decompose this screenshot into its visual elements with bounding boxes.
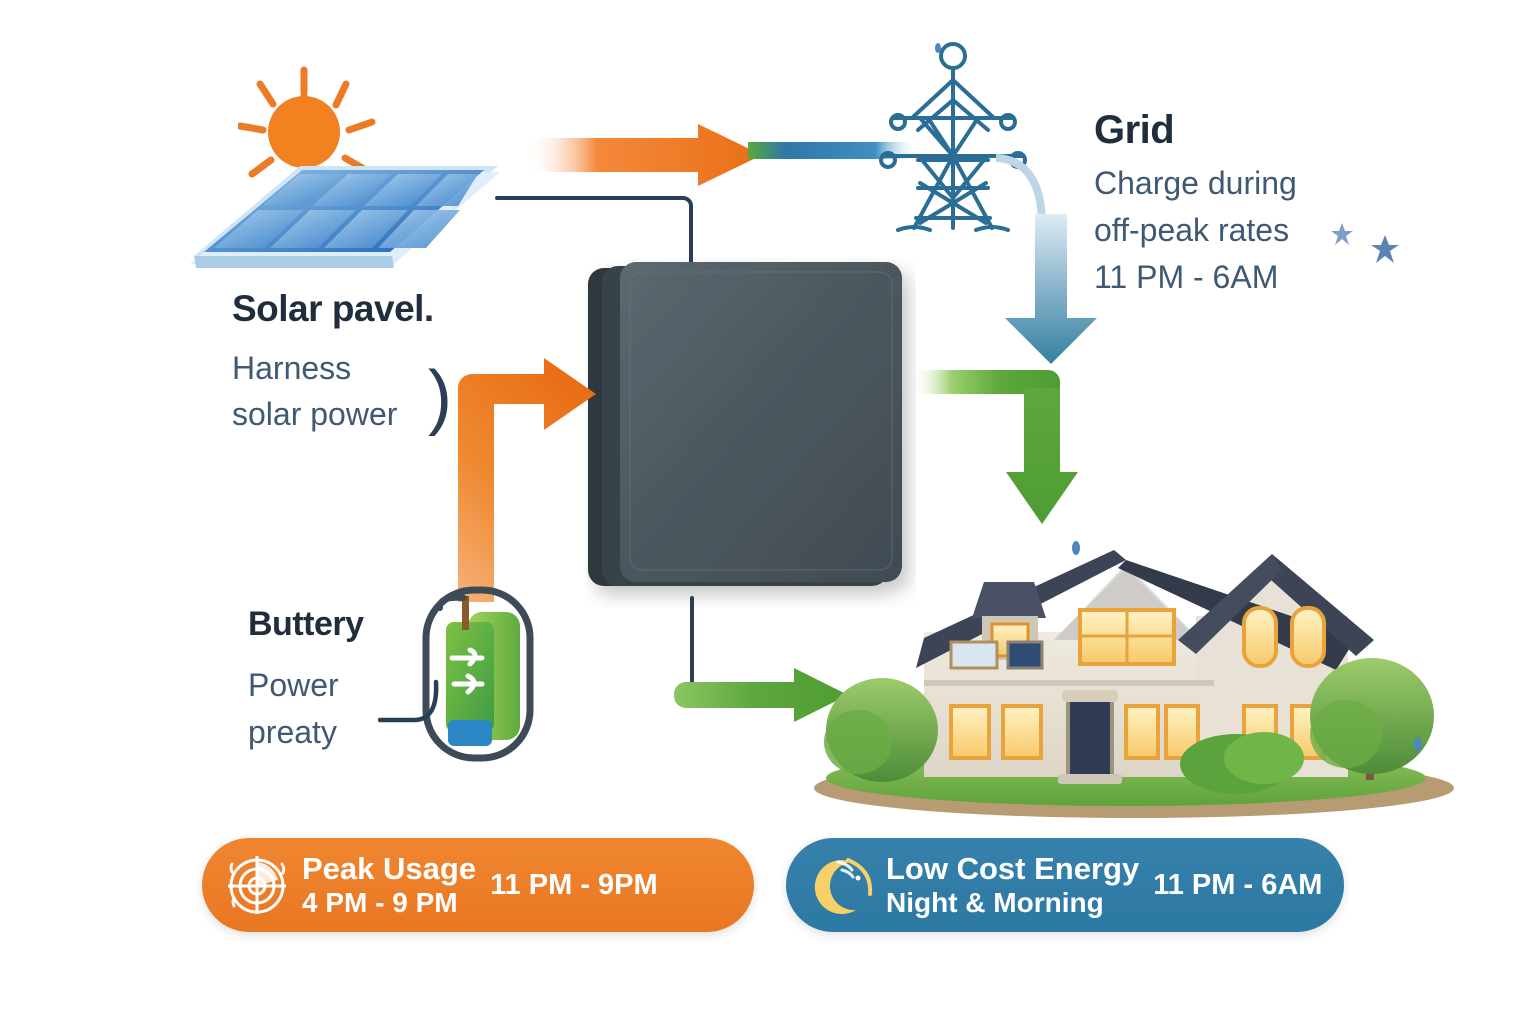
- grid-subtitle: Charge during off-peak rates 11 PM - 6AM: [1094, 160, 1297, 301]
- legend-low-cost-energy[interactable]: Low Cost Energy Night & Morning 11 PM - …: [786, 838, 1344, 932]
- legend-peak-usage[interactable]: Peak Usage 4 PM - 9 PM 11 PM - 9PM: [202, 838, 754, 932]
- legend-peak-usage-label: Peak Usage: [302, 853, 476, 886]
- house-icon: [796, 520, 1466, 820]
- legend-peak-usage-time: 11 PM - 9PM: [490, 869, 658, 902]
- grid-title: Grid: [1094, 108, 1174, 153]
- legend-peak-usage-sublabel: 4 PM - 9 PM: [302, 888, 476, 917]
- solar-subtitle: Harness solar power: [232, 345, 397, 437]
- energy-flow-infographic: Solar pavel. Harness solar power: [0, 0, 1536, 1024]
- decor-dot-icon: [1070, 540, 1082, 556]
- crescent-moon-icon: [808, 852, 874, 918]
- solar-to-grid-arrow: [520, 124, 770, 196]
- battery-cell-icon: [418, 584, 538, 764]
- legend-low-cost-energy-time: 11 PM - 6AM: [1153, 869, 1322, 902]
- radar-clock-icon: [224, 852, 290, 918]
- battery-title: Buttery: [248, 605, 364, 644]
- sparkle-star-large-icon: [1370, 234, 1400, 264]
- solar-panel-icon: [178, 148, 508, 278]
- battery-callout-curve: [378, 678, 448, 728]
- decor-dot-icon-3: [933, 42, 943, 54]
- legend-low-cost-energy-sublabel: Night & Morning: [886, 888, 1139, 917]
- battery-to-storage-arrow: [450, 358, 610, 608]
- battery-subtitle: Power preaty: [248, 662, 339, 756]
- sparkle-star-small-icon: [1330, 222, 1354, 246]
- decor-dot-icon-2: [1412, 736, 1424, 752]
- grid-to-house-arrow: [1005, 214, 1101, 364]
- solar-callout-mark: ): [428, 356, 452, 438]
- storage-to-house-top-arrow: [908, 368, 1078, 528]
- solar-title: Solar pavel.: [232, 288, 434, 330]
- legend-low-cost-energy-label: Low Cost Energy: [886, 853, 1139, 886]
